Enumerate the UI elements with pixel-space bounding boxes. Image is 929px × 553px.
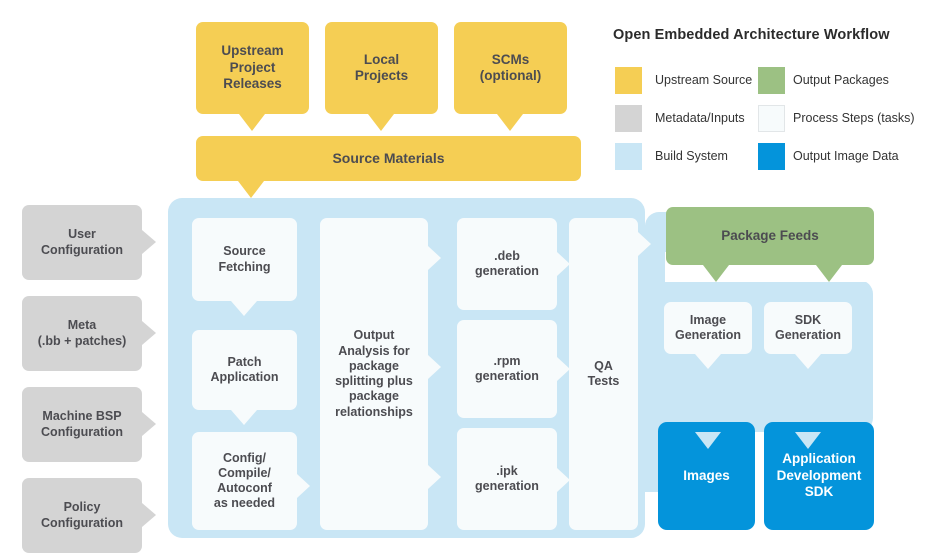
legend-swatch-metadata-inputs: [615, 105, 642, 132]
qa-tests-box[interactable]: QA Tests: [569, 218, 638, 530]
legend-swatch-process-steps: [758, 105, 785, 132]
arrow-down-sdk-generation: [795, 354, 821, 369]
config-compile-autoconf-box[interactable]: Config/ Compile/ Autoconf as needed: [192, 432, 297, 530]
source-materials-label: Source Materials: [326, 150, 450, 167]
policy-configuration-box[interactable]: Policy Configuration: [22, 478, 142, 553]
legend-swatch-upstream-source: [615, 67, 642, 94]
meta-bb-patches-label: Meta (.bb + patches): [32, 318, 133, 349]
policy-configuration-label: Policy Configuration: [35, 500, 129, 531]
image-generation-box[interactable]: Image Generation: [664, 302, 752, 354]
deb-generation-label: .deb generation: [469, 249, 545, 280]
machine-bsp-configuration-label: Machine BSP Configuration: [35, 409, 129, 440]
upstream-project-releases-box[interactable]: Upstream Project Releases: [196, 22, 309, 114]
arrow-right-output-analysis-ipk: [428, 465, 441, 489]
package-feeds-label: Package Feeds: [715, 228, 825, 244]
output-analysis-label: Output Analysis for package splitting pl…: [329, 328, 419, 420]
ipk-generation-label: .ipk generation: [469, 464, 545, 495]
meta-bb-patches-box[interactable]: Meta (.bb + patches): [22, 296, 142, 371]
arrow-right-rpm-generation: [557, 357, 570, 381]
arrow-right-qa-tests: [638, 232, 651, 256]
scms-optional-box[interactable]: SCMs (optional): [454, 22, 567, 114]
arrow-down-patch-application: [231, 410, 257, 425]
qa-tests-label: QA Tests: [582, 359, 626, 390]
rpm-generation-label: .rpm generation: [469, 354, 545, 385]
arrow-down-scms: [497, 114, 523, 131]
deb-generation-box[interactable]: .deb generation: [457, 218, 557, 310]
upstream-project-releases-label: Upstream Project Releases: [215, 43, 289, 92]
arrow-right-policy-configuration: [142, 503, 156, 527]
user-configuration-box[interactable]: User Configuration: [22, 205, 142, 280]
architecture-workflow-diagram: Open Embedded Architecture Workflow Upst…: [0, 0, 929, 552]
source-fetching-label: Source Fetching: [212, 244, 276, 275]
arrow-right-config-compile-autoconf: [297, 474, 310, 498]
source-fetching-box[interactable]: Source Fetching: [192, 218, 297, 301]
legend-swatch-output-image-data: [758, 143, 785, 170]
scms-optional-label: SCMs (optional): [474, 52, 547, 85]
arrow-right-deb-generation: [557, 252, 570, 276]
user-configuration-label: User Configuration: [35, 227, 129, 258]
legend-label-build-system: Build System: [655, 143, 728, 170]
arrow-down-package-feeds-image: [703, 265, 729, 282]
arrow-down-source-fetching: [231, 301, 257, 316]
arrow-down-image-generation: [695, 354, 721, 369]
legend-label-output-packages: Output Packages: [793, 67, 889, 94]
legend-title: Open Embedded Architecture Workflow: [613, 27, 890, 43]
image-generation-label: Image Generation: [669, 313, 747, 344]
arrow-right-ipk-generation: [557, 468, 570, 492]
arrow-down-upstream-releases: [239, 114, 265, 131]
arrow-down-to-images: [695, 432, 721, 449]
legend-label-process-steps: Process Steps (tasks): [793, 105, 915, 132]
ipk-generation-box[interactable]: .ipk generation: [457, 428, 557, 530]
machine-bsp-configuration-box[interactable]: Machine BSP Configuration: [22, 387, 142, 462]
source-materials-box[interactable]: Source Materials: [196, 136, 581, 181]
legend-swatch-output-packages: [758, 67, 785, 94]
legend-swatch-build-system: [615, 143, 642, 170]
package-feeds-box[interactable]: Package Feeds: [666, 207, 874, 265]
patch-application-box[interactable]: Patch Application: [192, 330, 297, 410]
arrow-down-package-feeds-sdk: [816, 265, 842, 282]
arrow-down-source-materials: [238, 181, 264, 198]
application-development-sdk-label: Application Development SDK: [771, 451, 868, 500]
legend-label-upstream-source: Upstream Source: [655, 67, 752, 94]
config-compile-autoconf-label: Config/ Compile/ Autoconf as needed: [208, 451, 281, 512]
local-projects-box[interactable]: Local Projects: [325, 22, 438, 114]
sdk-generation-label: SDK Generation: [769, 313, 847, 344]
rpm-generation-box[interactable]: .rpm generation: [457, 320, 557, 418]
sdk-generation-box[interactable]: SDK Generation: [764, 302, 852, 354]
arrow-down-to-sdk: [795, 432, 821, 449]
arrow-right-machine-bsp-configuration: [142, 412, 156, 436]
arrow-right-output-analysis-deb: [428, 246, 441, 270]
legend-label-metadata-inputs: Metadata/Inputs: [655, 105, 745, 132]
arrow-right-user-configuration: [142, 230, 156, 254]
legend-label-output-image-data: Output Image Data: [793, 143, 899, 170]
output-analysis-box[interactable]: Output Analysis for package splitting pl…: [320, 218, 428, 530]
arrow-right-meta-bb-patches: [142, 321, 156, 345]
local-projects-label: Local Projects: [349, 52, 414, 85]
patch-application-label: Patch Application: [204, 355, 284, 386]
arrow-down-local-projects: [368, 114, 394, 131]
images-label: Images: [677, 468, 736, 484]
arrow-right-output-analysis-rpm: [428, 355, 441, 379]
